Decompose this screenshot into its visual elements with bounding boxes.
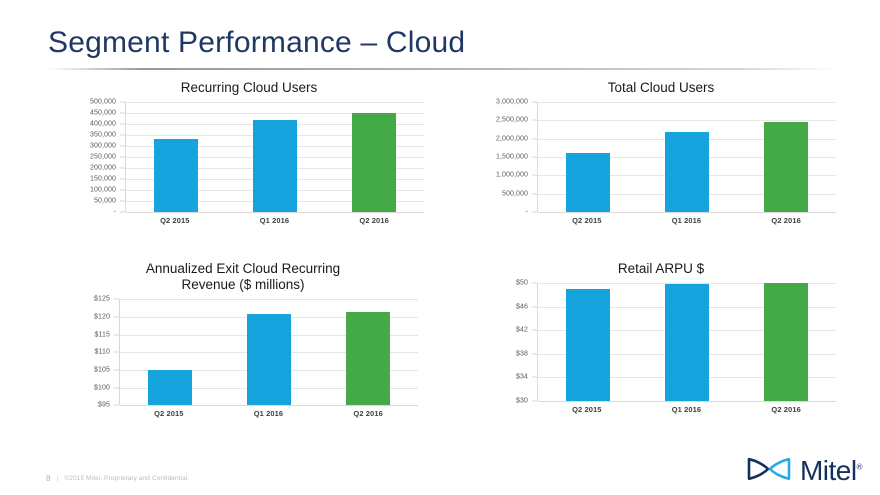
y-axis-tick-label: 2,500,000 xyxy=(496,117,528,124)
chart-retail-arpu: Retail ARPU $ $30$34$38$42$46$50 Q2 2015… xyxy=(486,261,836,436)
chart-title: Annualized Exit Cloud Recurring Revenue … xyxy=(68,261,418,293)
y-axis-tick-label: - xyxy=(526,208,528,215)
y-axis-tick-label: $105 xyxy=(94,367,110,374)
y-axis-tick-label: $38 xyxy=(516,350,528,357)
bar-q2-2016 xyxy=(346,312,390,406)
bar-q1-2016 xyxy=(253,120,297,212)
bar-q2-2015 xyxy=(154,139,198,212)
y-axis-labels: -500,0001,000,0001,500,0002,000,0002,500… xyxy=(486,102,532,212)
y-axis-tick-label: $125 xyxy=(94,296,110,303)
y-axis-tick-label: $115 xyxy=(95,331,110,338)
mitel-wordmark: Mitel® xyxy=(800,455,862,487)
y-axis-labels: $30$34$38$42$46$50 xyxy=(486,283,532,401)
footer-separator: | xyxy=(57,475,59,482)
y-axis-tick-label: $95 xyxy=(98,402,110,409)
plot-area-wrapper: -50,000100,000150,000200,000250,000300,0… xyxy=(74,102,424,212)
y-axis-tick-label: $110 xyxy=(95,349,110,356)
y-axis-tick-label: 1,500,000 xyxy=(496,153,528,160)
x-axis-tick-label: Q2 2016 xyxy=(359,216,388,225)
mitel-bowtie-icon xyxy=(746,456,792,487)
bar-series xyxy=(538,102,836,212)
plot-area xyxy=(119,299,418,405)
copyright-text: ©2015 Mitel. Proprietary and Confidentia… xyxy=(64,475,189,482)
page-number: 8 xyxy=(46,474,51,483)
mitel-wordmark-text: Mitel xyxy=(800,455,857,486)
x-axis-tick-label: Q1 2016 xyxy=(672,216,701,225)
y-axis-tick-label: 500,000 xyxy=(90,98,116,105)
bar-series xyxy=(126,102,424,212)
bar-series xyxy=(120,299,418,405)
y-axis-tick-label: 2,000,000 xyxy=(496,135,528,142)
y-axis-tick-label: $42 xyxy=(516,327,528,334)
y-axis-tick-label: 250,000 xyxy=(90,153,116,160)
x-axis-tick-label: Q2 2015 xyxy=(160,216,189,225)
chart-title: Recurring Cloud Users xyxy=(74,80,424,96)
page-title: Segment Performance – Cloud xyxy=(48,26,465,60)
x-axis-labels: Q2 2015Q1 2016Q2 2016 xyxy=(125,212,424,225)
bar-q1-2016 xyxy=(665,132,709,212)
chart-annualized-exit-cloud-recurring-revenue: Annualized Exit Cloud Recurring Revenue … xyxy=(68,261,418,436)
y-axis-tick-label: - xyxy=(114,208,116,215)
gridline xyxy=(126,212,424,213)
bar-q2-2016 xyxy=(764,283,808,401)
bar-q1-2016 xyxy=(665,284,709,401)
x-axis-tick-label: Q1 2016 xyxy=(672,405,701,414)
y-axis-tick-label: 500,000 xyxy=(502,190,528,197)
x-axis-tick-label: Q2 2016 xyxy=(771,216,800,225)
plot-area-wrapper: -500,0001,000,0001,500,0002,000,0002,500… xyxy=(486,102,836,212)
bar-q2-2015 xyxy=(566,289,610,401)
y-axis-tick-label: 200,000 xyxy=(90,164,116,171)
bar-q1-2016 xyxy=(247,314,291,405)
x-axis-labels: Q2 2015Q1 2016Q2 2016 xyxy=(119,405,418,418)
y-axis-tick-label: $34 xyxy=(516,374,528,381)
y-axis-tick-label: 400,000 xyxy=(90,120,116,127)
plot-area xyxy=(537,102,836,212)
y-axis-tick-label: $100 xyxy=(94,384,110,391)
bar-q2-2016 xyxy=(352,113,396,212)
y-axis-tick-label: 450,000 xyxy=(90,109,116,116)
plot-area-wrapper: $95$100$105$110$115$120$125 xyxy=(68,299,418,405)
plot-area xyxy=(537,283,836,401)
y-axis-labels: -50,000100,000150,000200,000250,000300,0… xyxy=(74,102,120,212)
x-axis-tick-label: Q2 2016 xyxy=(771,405,800,414)
y-axis-tick-label: 350,000 xyxy=(90,131,116,138)
y-axis-tick-label: $30 xyxy=(516,397,528,404)
slide-footer: 8 | ©2015 Mitel. Proprietary and Confide… xyxy=(46,474,189,483)
y-axis-tick-label: 300,000 xyxy=(90,142,116,149)
x-axis-tick-label: Q1 2016 xyxy=(260,216,289,225)
y-axis-tick-label: $46 xyxy=(516,303,528,310)
y-axis-labels: $95$100$105$110$115$120$125 xyxy=(68,299,114,405)
y-axis-tick-label: 1,000,000 xyxy=(496,172,528,179)
y-axis-tick-label: 3,000,000 xyxy=(496,98,528,105)
chart-title: Retail ARPU $ xyxy=(486,261,836,277)
x-axis-tick-label: Q2 2015 xyxy=(572,405,601,414)
plot-area-wrapper: $30$34$38$42$46$50 xyxy=(486,283,836,401)
plot-area xyxy=(125,102,424,212)
y-axis-tick-label: $120 xyxy=(94,314,110,321)
chart-recurring-cloud-users: Recurring Cloud Users -50,000100,000150,… xyxy=(74,80,424,245)
x-axis-tick-label: Q1 2016 xyxy=(254,409,283,418)
x-axis-tick-label: Q2 2015 xyxy=(572,216,601,225)
chart-title: Total Cloud Users xyxy=(486,80,836,96)
y-axis-tick-label: 150,000 xyxy=(90,175,116,182)
title-divider xyxy=(48,68,838,70)
mitel-logo: Mitel® xyxy=(746,455,862,487)
x-axis-labels: Q2 2015Q1 2016Q2 2016 xyxy=(537,401,836,414)
bar-series xyxy=(538,283,836,401)
chart-total-cloud-users: Total Cloud Users -500,0001,000,0001,500… xyxy=(486,80,836,245)
y-axis-tick-label: 100,000 xyxy=(90,186,116,193)
gridline xyxy=(538,212,836,213)
y-axis-tick-label: $50 xyxy=(516,279,528,286)
x-axis-tick-label: Q2 2016 xyxy=(353,409,382,418)
chart-title-line-1: Annualized Exit Cloud Recurring xyxy=(68,261,418,277)
chart-title-line-2: Revenue ($ millions) xyxy=(68,277,418,293)
y-axis-tick-label: 50,000 xyxy=(94,197,116,204)
chart-grid: Recurring Cloud Users -50,000100,000150,… xyxy=(0,78,880,443)
bar-q2-2015 xyxy=(566,153,610,212)
x-axis-labels: Q2 2015Q1 2016Q2 2016 xyxy=(537,212,836,225)
gridline xyxy=(120,405,418,406)
bar-q2-2016 xyxy=(764,122,808,212)
registered-mark: ® xyxy=(857,463,862,472)
x-axis-tick-label: Q2 2015 xyxy=(154,409,183,418)
gridline xyxy=(538,401,836,402)
bar-q2-2015 xyxy=(148,370,192,405)
